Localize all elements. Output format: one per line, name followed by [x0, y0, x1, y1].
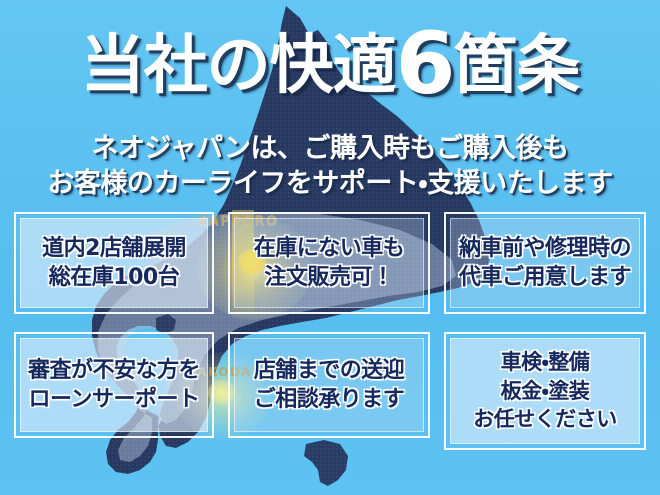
- feature-line: 道内2店舗展開: [42, 234, 186, 263]
- headline-text-before: 当社の快適: [81, 29, 396, 103]
- feature-line: お任せください: [473, 405, 617, 433]
- feature-box-loan-support[interactable]: 審査が不安な方を ローンサーポート: [14, 332, 214, 438]
- feature-box-order-sales[interactable]: 在庫にない車も 注文販売可！: [228, 212, 430, 314]
- feature-line: ローンサーポート: [29, 385, 200, 414]
- feature-box-body: 道内2店舗展開 総在庫100台: [20, 218, 208, 308]
- feature-box-loaner-car[interactable]: 納車前や修理時の 代車ご用意します: [444, 212, 646, 314]
- feature-box-body: 車検・整備 板金・塗装 お任せください: [450, 338, 640, 444]
- page-title: 当社の快適6箇条: [0, 26, 660, 103]
- headline-number: 6: [396, 14, 454, 114]
- feature-box-body: 納車前や修理時の 代車ご用意します: [450, 218, 640, 308]
- feature-box-pickup-service[interactable]: 店舗までの送迎 ご相談承ります: [228, 332, 430, 438]
- feature-line: 納車前や修理時の: [459, 234, 631, 263]
- advertisement-banner: SAPPORO HAKODATE 当社の快適6箇条 ネオジャパンは、ご購入時もご…: [0, 0, 660, 495]
- headline-text-after: 箇条: [453, 29, 579, 103]
- feature-line: 在庫にない車も: [254, 234, 405, 263]
- subtitle-line-1: ネオジャパンは、ご購入時もご購入後も: [0, 132, 660, 167]
- feature-line: 総在庫100台: [49, 263, 179, 292]
- feature-line: 代車ご用意します: [459, 263, 631, 292]
- feature-line: 店舗までの送迎: [254, 356, 405, 385]
- feature-box-body: 在庫にない車も 注文販売可！: [234, 218, 424, 308]
- feature-box-body: 店舗までの送迎 ご相談承ります: [234, 338, 424, 432]
- subtitle-line-2: お客様のカーライフをサポート・支援いたします: [0, 167, 660, 202]
- feature-line: 板金・塗装: [501, 377, 590, 405]
- feature-line: 審査が不安な方を: [28, 356, 200, 385]
- feature-line: 注文販売可！: [264, 263, 393, 292]
- feature-box-body: 審査が不安な方を ローンサーポート: [20, 338, 208, 432]
- feature-box-stores-inventory[interactable]: 道内2店舗展開 総在庫100台: [14, 212, 214, 314]
- feature-line: 車検・整備: [501, 348, 590, 376]
- feature-box-inspection-bodywork[interactable]: 車検・整備 板金・塗装 お任せください: [444, 332, 646, 450]
- feature-line: ご相談承ります: [254, 385, 405, 414]
- subtitle: ネオジャパンは、ご購入時もご購入後も お客様のカーライフをサポート・支援いたしま…: [0, 132, 660, 201]
